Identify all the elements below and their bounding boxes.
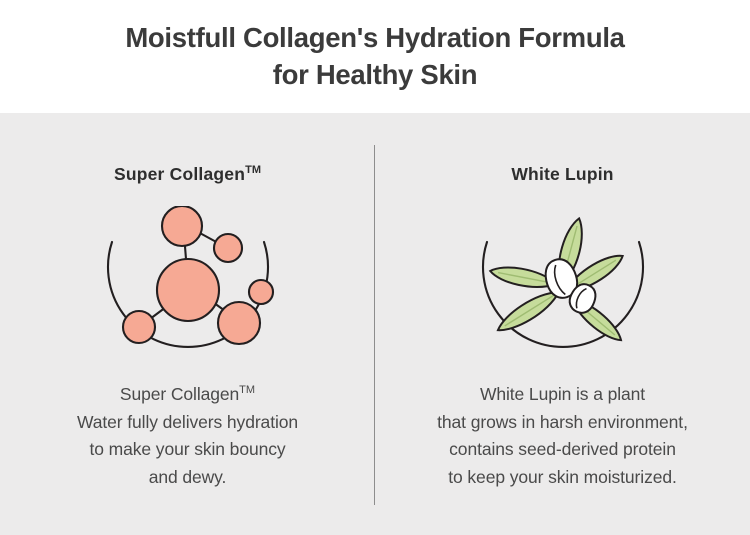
- column-white-lupin: White Lupin: [375, 113, 750, 535]
- molecule-nodes: [123, 206, 273, 344]
- column-super-collagen: Super CollagenTM: [0, 113, 375, 535]
- body-line: and dewy.: [0, 464, 375, 492]
- molecule-node-lower-right: [218, 302, 260, 344]
- molecule-node-center: [157, 259, 219, 321]
- infographic-page: Moistfull Collagen's Hydration Formula f…: [0, 0, 750, 535]
- column-title-white-lupin: White Lupin: [375, 164, 750, 185]
- molecule-node-right: [249, 280, 273, 304]
- body-line: Super CollagenTM: [0, 381, 375, 409]
- page-header: Moistfull Collagen's Hydration Formula f…: [0, 0, 750, 113]
- trademark-symbol: TM: [245, 164, 261, 176]
- body-line: to make your skin bouncy: [0, 436, 375, 464]
- body-line: contains seed-derived protein: [375, 436, 750, 464]
- column-body-white-lupin: White Lupin is a plant that grows in har…: [375, 381, 750, 492]
- column-title-super-collagen: Super CollagenTM: [0, 164, 375, 185]
- body-line: White Lupin is a plant: [375, 381, 750, 409]
- body-line: Water fully delivers hydration: [0, 409, 375, 437]
- column-title-text: Super Collagen: [114, 164, 245, 184]
- molecule-node-lower-left: [123, 311, 155, 343]
- body-line: to keep your skin moisturized.: [375, 464, 750, 492]
- column-title-text: White Lupin: [511, 164, 613, 184]
- page-title-line-2: for Healthy Skin: [273, 57, 478, 94]
- white-lupin-plant-svg: [473, 206, 653, 366]
- column-divider: [374, 145, 375, 505]
- column-body-super-collagen: Super CollagenTM Water fully delivers hy…: [0, 381, 375, 492]
- collagen-molecule-svg: [98, 206, 278, 366]
- trademark-symbol: TM: [239, 384, 255, 396]
- body-line: that grows in harsh environment,: [375, 409, 750, 437]
- collagen-molecule-icon: [0, 201, 375, 371]
- molecule-node-top: [162, 206, 202, 246]
- molecule-node-upper-right: [214, 234, 242, 262]
- page-title-line-1: Moistfull Collagen's Hydration Formula: [125, 20, 624, 57]
- lupin-flower-buds: [540, 255, 599, 316]
- white-lupin-plant-icon: [375, 201, 750, 371]
